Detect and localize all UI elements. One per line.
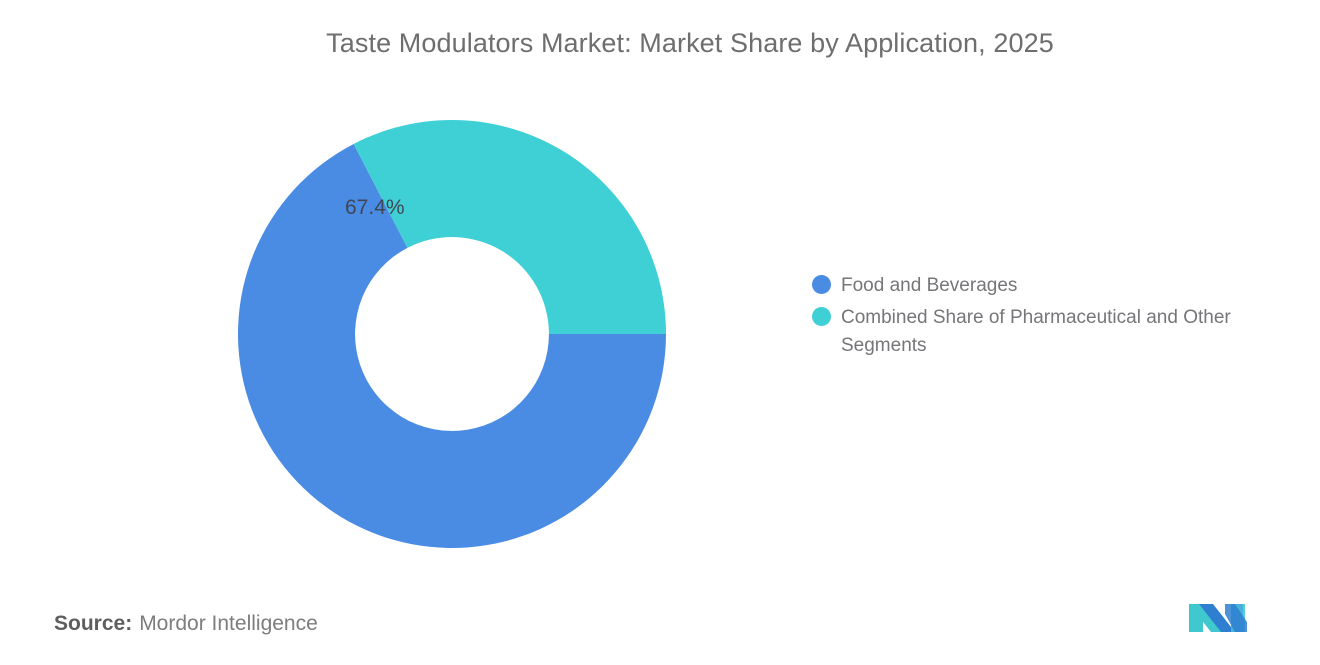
donut-chart-svg [238, 120, 666, 548]
legend-item-food-and-beverages[interactable]: Food and Beverages [812, 272, 1282, 300]
legend-item-label: Food and Beverages [841, 272, 1017, 300]
legend-color-swatch-icon [812, 307, 831, 326]
source-attribution: Source:Mordor Intelligence [54, 612, 318, 636]
pie-slice-value-label: 67.4% [345, 196, 405, 220]
legend-item-combined-share[interactable]: Combined Share of Pharmaceutical and Oth… [812, 304, 1282, 360]
chart-title: Taste Modulators Market: Market Share by… [0, 28, 1320, 59]
source-name: Mordor Intelligence [139, 612, 318, 635]
pie-slice-combined-share[interactable] [354, 120, 666, 334]
mordor-intelligence-logo-icon [1185, 598, 1257, 636]
source-label: Source: [54, 612, 132, 635]
chart-legend: Food and Beverages Combined Share of Pha… [812, 272, 1282, 364]
donut-chart [238, 120, 666, 548]
legend-item-label: Combined Share of Pharmaceutical and Oth… [841, 304, 1241, 360]
legend-color-swatch-icon [812, 275, 831, 294]
